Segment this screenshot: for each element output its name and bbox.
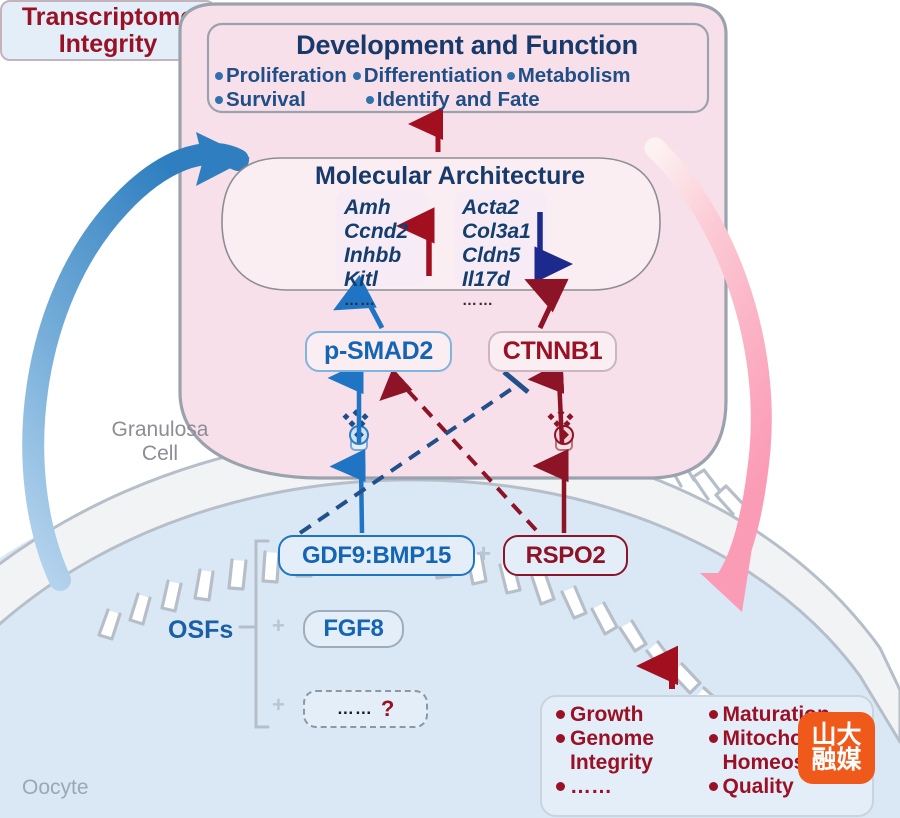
development-row-2: Survival Identify and Fate [215, 88, 715, 112]
unknown-dots: …… [337, 699, 373, 719]
gene-item: Inhbb [344, 244, 408, 268]
oocyte-list-left: Growth Genome Integrity …… [556, 703, 709, 799]
watermark-line1: 山大 [811, 723, 861, 748]
bullet-icon [556, 710, 565, 719]
upregulated-gene-list: Amh Ccnd2 Inhbb Kitl …… [344, 196, 408, 309]
plus-sign: + [476, 538, 491, 569]
ctnnb1-node[interactable]: CTNNB1 [488, 331, 617, 372]
list-item: Proliferation [215, 64, 347, 88]
psmad2-node[interactable]: p-SMAD2 [305, 331, 452, 372]
list-item: …… [556, 775, 709, 799]
gene-item: Cldn5 [462, 244, 531, 268]
gene-item: Acta2 [462, 196, 531, 220]
oocyte-label: Oocyte [22, 776, 89, 800]
figure-canvas: Granulosa Cell Oocyte Development and Fu… [0, 0, 900, 818]
molecular-architecture-title: Molecular Architecture [270, 162, 630, 191]
development-row-1: Proliferation Differentiation Metabolism [215, 64, 715, 88]
list-item: Genome [556, 727, 709, 751]
unknown-factor-node[interactable]: …… ? [303, 690, 428, 728]
gene-item: Ccnd2 [344, 220, 408, 244]
osfs-label: OSFs [168, 616, 233, 645]
bullet-icon [556, 782, 565, 791]
downregulated-gene-list: Acta2 Col3a1 Cldn5 Il17d …… [462, 196, 531, 309]
bullet-icon [366, 96, 374, 104]
list-item: Growth [556, 703, 709, 727]
gene-item: Amh [344, 196, 408, 220]
plus-sign: + [272, 613, 285, 639]
list-item: Survival [215, 88, 306, 112]
development-panel-title: Development and Function [232, 30, 702, 61]
bullet-icon [709, 710, 718, 719]
list-item: Metabolism [507, 64, 631, 88]
gene-item-ellipsis: …… [462, 292, 531, 309]
gene-item-ellipsis: …… [344, 292, 408, 309]
granulosa-cell-label: Granulosa Cell [95, 418, 225, 465]
list-item: Differentiation [353, 64, 503, 88]
question-mark-icon: ? [381, 696, 394, 722]
bullet-icon [556, 734, 565, 743]
bullet-icon [215, 96, 223, 104]
gdf9-bmp15-node[interactable]: GDF9:BMP15 [278, 535, 475, 576]
bullet-icon [709, 782, 718, 791]
bullet-icon [507, 72, 515, 80]
gene-item: Col3a1 [462, 220, 531, 244]
watermark-logo: 山大 融媒 [798, 712, 875, 784]
bullet-icon [353, 72, 361, 80]
plus-sign: + [272, 692, 285, 718]
bullet-icon [215, 72, 223, 80]
rspo2-node[interactable]: RSPO2 [503, 535, 628, 576]
development-panel-list: Proliferation Differentiation Metabolism… [215, 64, 715, 112]
list-item-continuation: Integrity [570, 751, 709, 775]
list-item: Identify and Fate [366, 88, 540, 112]
gene-item: Il17d [462, 268, 531, 292]
receptor-to-ctnnb1-arrow [559, 378, 562, 443]
fgf8-node[interactable]: FGF8 [303, 610, 404, 648]
gene-item: Kitl [344, 268, 408, 292]
bullet-icon [709, 734, 718, 743]
watermark-line2: 融媒 [811, 748, 861, 773]
gdf9-to-receptor-arrow [361, 466, 362, 533]
